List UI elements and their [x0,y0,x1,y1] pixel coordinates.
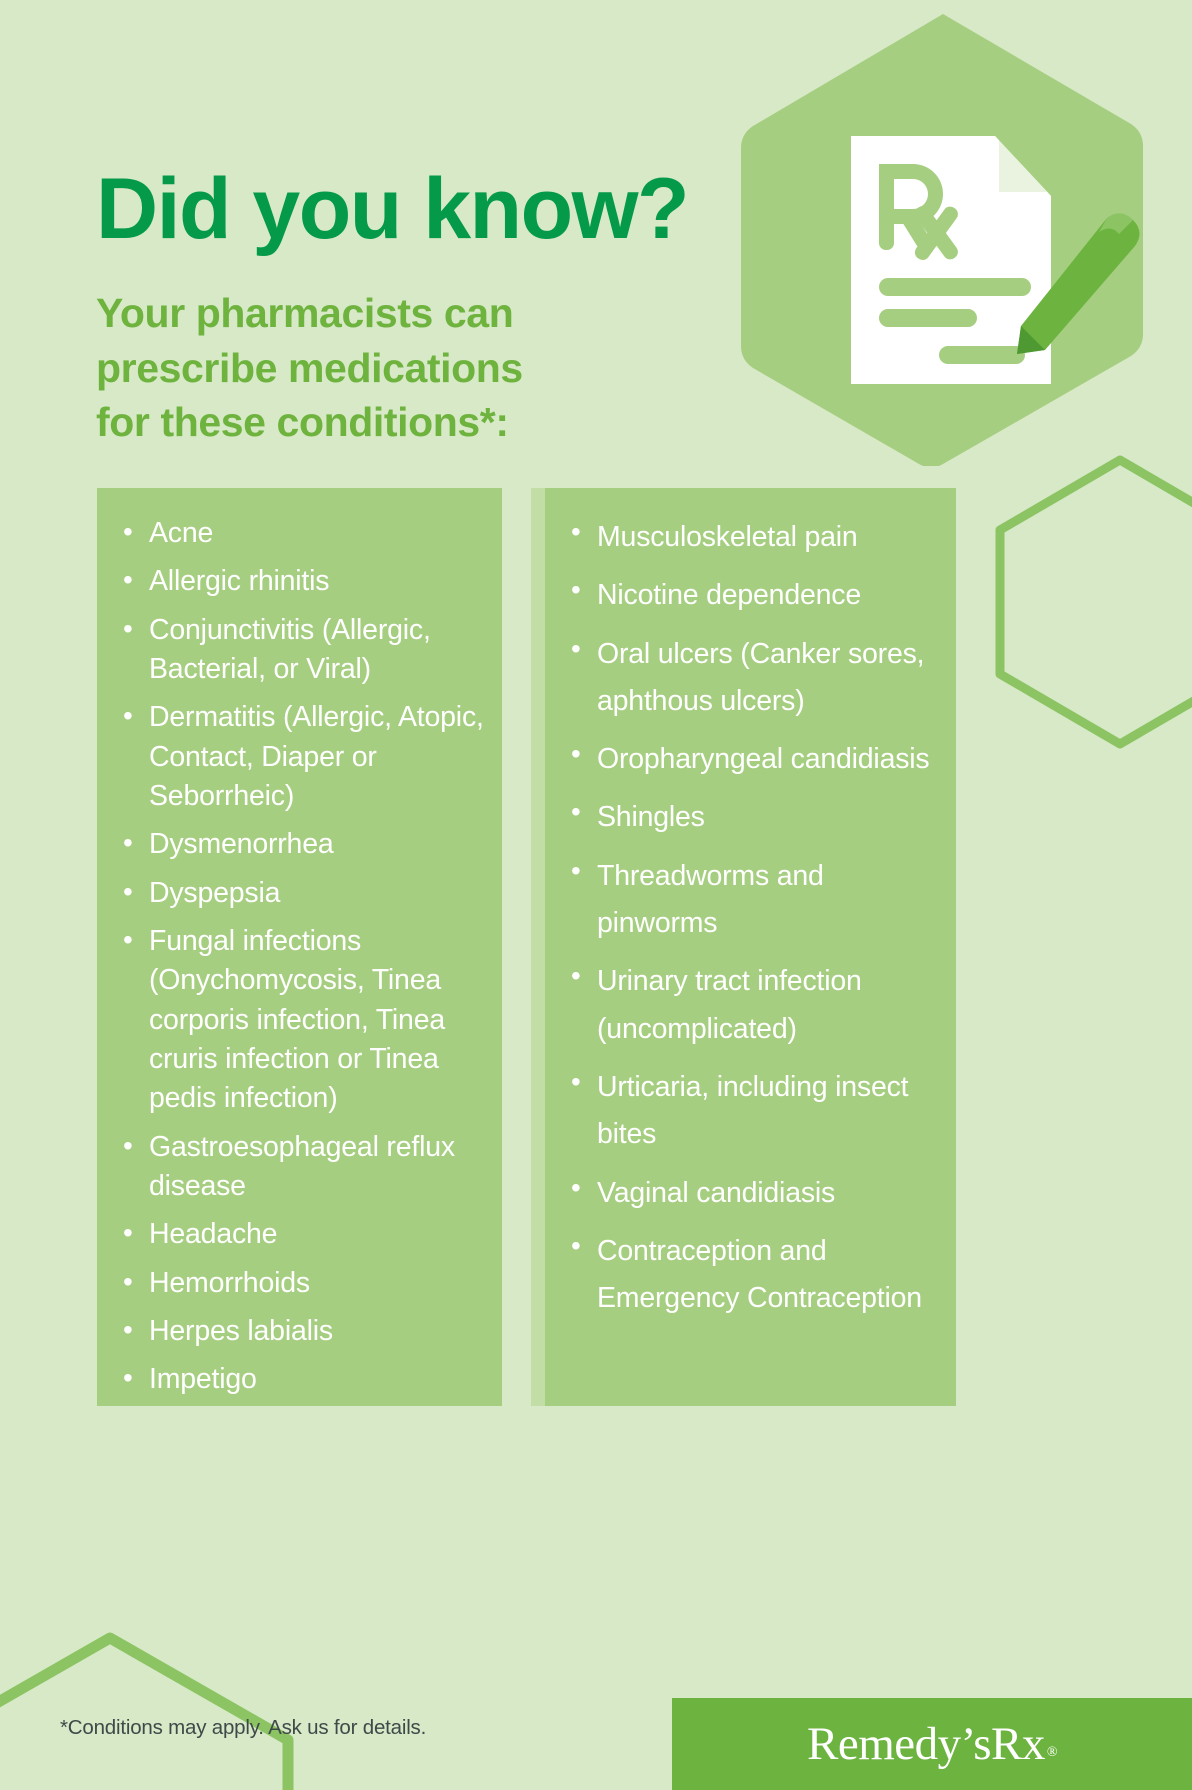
conditions-card-right: Musculoskeletal painNicotine dependenceO… [545,488,956,1406]
conditions-list-left: AcneAllergic rhinitisConjunctivitis (All… [97,488,502,1400]
list-item: Shingles [567,794,942,841]
list-item: Threadworms and pinworms [567,853,942,948]
registered-trademark-icon: ® [1047,1745,1057,1760]
list-item: Oral ulcers (Canker sores, aphthous ulce… [567,631,942,726]
list-item: Hemorrhoids [119,1264,488,1303]
prescription-document-icon [851,136,1051,384]
list-item: Urinary tract infection (uncomplicated) [567,958,942,1053]
pencil-icon [1017,213,1140,354]
list-item: Urticaria, including insect bites [567,1064,942,1159]
brand-name: Remedy’sRx [807,1718,1045,1770]
list-item: Fungal infections (Onychomycosis, Tinea … [119,922,488,1119]
page-subtitle: Your pharmacists can prescribe medicatio… [96,286,523,450]
list-item: Dermatitis (Allergic, Atopic, Contact, D… [119,698,488,816]
hexagon-outline-icon [0,1630,300,1790]
list-item: Gastroesophageal reflux disease [119,1128,488,1207]
brand-logo: Remedy’sRx® [807,1717,1057,1771]
conditions-card-left: AcneAllergic rhinitisConjunctivitis (All… [97,488,502,1406]
hexagon-icon [733,6,1153,466]
page-title: Did you know? [96,166,688,252]
conditions-list-right: Musculoskeletal painNicotine dependenceO… [545,488,956,1322]
hexagon-outline-icon [985,452,1192,752]
brand-logo-bar: Remedy’sRx® [672,1698,1192,1790]
footnote: *Conditions may apply. Ask us for detail… [60,1716,426,1740]
list-item: Vaginal candidiasis [567,1170,942,1217]
list-item: Herpes labialis [119,1312,488,1351]
list-item: Allergic rhinitis [119,562,488,601]
list-item: Dyspepsia [119,874,488,913]
list-item: Conjunctivitis (Allergic, Bacterial, or … [119,611,488,690]
subtitle-line-1: Your pharmacists can [96,286,523,341]
list-item: Contraception and Emergency Contraceptio… [567,1228,942,1323]
list-item: Oropharyngeal candidiasis [567,736,942,783]
list-item: Nicotine dependence [567,572,942,619]
subtitle-line-2: prescribe medications [96,341,523,396]
list-item: Musculoskeletal pain [567,514,942,561]
list-item: Acne [119,514,488,553]
poster-canvas: Did you know? Your pharmacists can presc… [0,0,1192,1790]
list-item: Headache [119,1215,488,1254]
subtitle-line-3: for these conditions*: [96,395,523,450]
list-item: Dysmenorrhea [119,825,488,864]
list-item: Impetigo [119,1360,488,1399]
